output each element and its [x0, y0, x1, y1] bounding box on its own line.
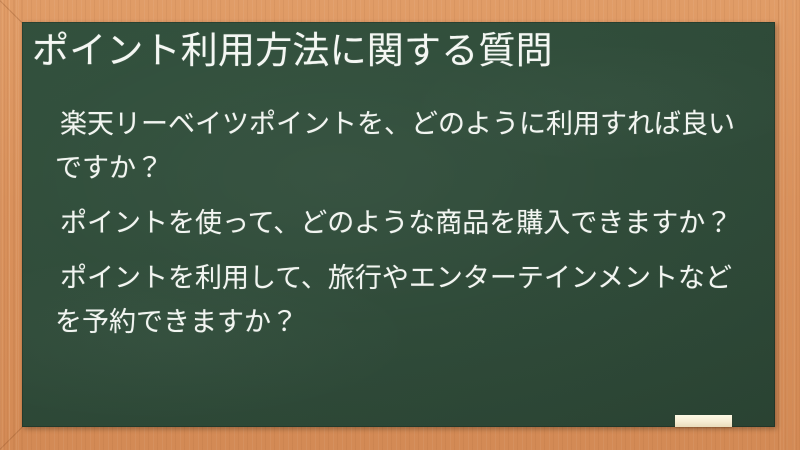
slide-title: ポイント利用方法に関する質問: [32, 28, 762, 74]
frame-grain-left: [0, 0, 22, 450]
frame-grain-right: [778, 0, 800, 450]
chalk-stick-icon: [675, 415, 732, 427]
question-item: ポイントを利用して、旅行やエンターテインメントなどを予約できますか？: [55, 257, 745, 345]
frame-miter-bottom-left-icon: [0, 425, 24, 450]
question-item: 楽天リーベイツポイントを、どのように利用すれば良いですか？: [55, 103, 745, 191]
frame-miter-top-left-icon: [0, 0, 24, 25]
blackboard-content: ポイント利用方法に関する質問 楽天リーベイツポイントを、どのように利用すれば良い…: [22, 22, 775, 427]
blackboard-surface: ポイント利用方法に関する質問 楽天リーベイツポイントを、どのように利用すれば良い…: [22, 22, 775, 427]
question-item: ポイントを使って、どのような商品を購入できますか？: [55, 202, 745, 246]
question-list: 楽天リーベイツポイントを、どのように利用すれば良いですか？ ポイントを使って、ど…: [55, 103, 745, 345]
blackboard-slide: ポイント利用方法に関する質問 楽天リーベイツポイントを、どのように利用すれば良い…: [0, 0, 800, 450]
